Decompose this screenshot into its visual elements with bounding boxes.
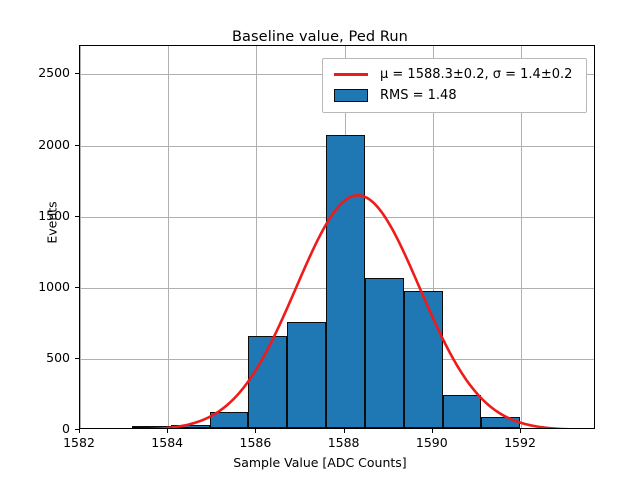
y-tick [75, 73, 79, 74]
y-axis-label: Events [45, 163, 60, 283]
legend-patch-swatch [331, 89, 371, 102]
x-tick [255, 429, 256, 433]
x-tick [520, 429, 521, 433]
legend-item-fit: μ = 1588.3±0.2, σ = 1.4±0.2 [331, 64, 578, 85]
x-tick [344, 429, 345, 433]
x-tick-label: 1584 [137, 435, 197, 450]
y-tick-label: 1500 [12, 209, 70, 223]
x-tick-label: 1590 [402, 435, 462, 450]
y-tick-label: 2500 [12, 66, 70, 80]
y-tick-label: 1000 [12, 280, 70, 294]
y-tick [75, 216, 79, 217]
x-axis-label: Sample Value [ADC Counts] [0, 455, 640, 470]
x-tick [432, 429, 433, 433]
legend: μ = 1588.3±0.2, σ = 1.4±0.2 RMS = 1.48 [322, 58, 587, 113]
matplotlib-figure: Baseline value, Ped Run 1582158415861588… [0, 0, 640, 480]
y-tick-label: 500 [12, 351, 70, 365]
y-tick-label: 0 [12, 422, 70, 436]
y-tick [75, 429, 79, 430]
page-title: Baseline value, Ped Run [0, 29, 640, 45]
legend-label-fit: μ = 1588.3±0.2, σ = 1.4±0.2 [380, 67, 572, 82]
y-tick-label: 2000 [12, 138, 70, 152]
y-tick [75, 287, 79, 288]
legend-item-hist: RMS = 1.48 [331, 85, 578, 106]
x-tick [167, 429, 168, 433]
x-tick-label: 1592 [490, 435, 550, 450]
y-tick [75, 145, 79, 146]
x-tick-label: 1586 [225, 435, 285, 450]
legend-label-hist: RMS = 1.48 [380, 88, 457, 103]
x-tick-label: 1582 [49, 435, 109, 450]
legend-line-swatch [331, 73, 371, 76]
x-tick-label: 1588 [314, 435, 374, 450]
x-tick [79, 429, 80, 433]
y-tick [75, 358, 79, 359]
